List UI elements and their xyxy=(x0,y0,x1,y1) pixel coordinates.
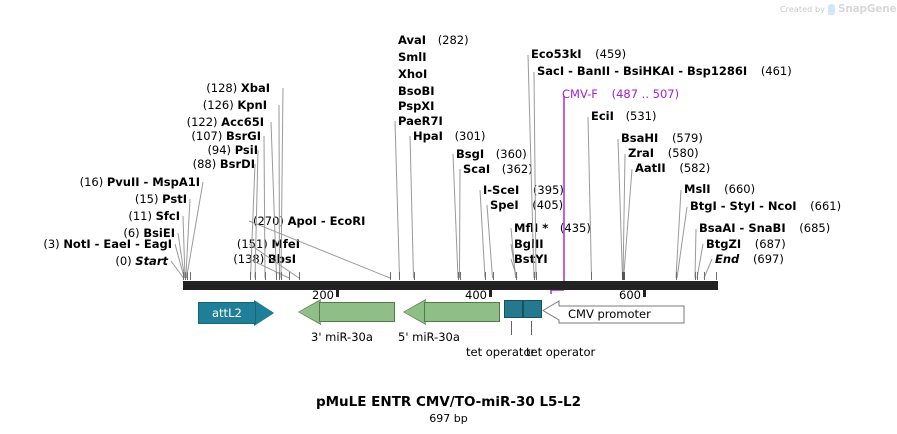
site-names: AvaI xyxy=(398,33,426,47)
tet-operator-1-stem xyxy=(511,321,512,335)
site-pos: (697) xyxy=(753,252,784,266)
site-names: ScaI xyxy=(463,162,490,176)
site-pos: (459) xyxy=(595,47,626,61)
site-names: SmlI xyxy=(398,50,427,64)
site-label-bsaHI: BsaHI (579) xyxy=(621,132,703,145)
site-pos: (687) xyxy=(755,237,786,251)
site-label-end: End (697) xyxy=(715,253,784,266)
site-label-bsaAI-snaBI: BsaAI - SnaBI (685) xyxy=(699,222,830,235)
site-names: PaeR7I xyxy=(398,114,443,128)
site-label-kpnI: (126) KpnI xyxy=(80,99,267,112)
site-pos: (579) xyxy=(672,131,703,145)
site-pos: (3) xyxy=(43,237,59,251)
site-label-sfcI: (11) SfcI xyxy=(0,210,180,223)
site-names: BbsI xyxy=(268,252,296,266)
site-names: BtgI - StyI - NcoI xyxy=(690,199,797,213)
site-names: XhoI xyxy=(398,67,427,81)
feature-3prime-mir-30a[interactable] xyxy=(299,300,395,324)
site-label-smlI: SmlI xyxy=(398,51,427,64)
site-names: PsiI xyxy=(235,143,258,157)
site-pos: (435) xyxy=(560,221,591,235)
site-pos: (138) xyxy=(233,252,264,266)
site-names: MflI * xyxy=(514,221,548,235)
site-pos: (270) xyxy=(253,214,284,228)
site-names: BsaHI xyxy=(621,131,658,145)
site-label-xhoI: XhoI xyxy=(398,68,427,81)
site-names: AatII xyxy=(635,161,666,175)
site-label-zraI: ZraI (580) xyxy=(628,147,699,160)
site-names: BsgI xyxy=(456,147,484,161)
site-label-speI: SpeI (405) xyxy=(490,199,563,212)
site-pos: (685) xyxy=(799,221,830,235)
feature-attL2-label: attL2 xyxy=(212,306,242,320)
primer-label-cmv-f: CMV-F (487 .. 507) xyxy=(562,88,679,101)
site-pos: (360) xyxy=(496,147,527,161)
site-label-bbsI: (138) BbsI xyxy=(120,253,296,266)
site-label-bsrGI: (107) BsrGI xyxy=(80,130,261,143)
ruler-tick-400 xyxy=(489,288,492,297)
site-names: KpnI xyxy=(237,98,267,112)
site-names: SpeI xyxy=(490,198,519,212)
site-label-pvuII-mspA1I: (16) PvuII - MspA1I xyxy=(0,176,200,189)
site-names: I-SceI xyxy=(483,183,519,197)
site-pos: (661) xyxy=(810,199,841,213)
primer-name: CMV-F xyxy=(562,87,598,101)
site-names: PspXI xyxy=(398,99,434,113)
site-pos: (461) xyxy=(761,64,792,78)
site-label-paeR7I: PaeR7I xyxy=(398,115,443,128)
site-label-btgI-styI-ncoI: BtgI - StyI - NcoI (661) xyxy=(690,200,841,213)
site-names: BtgZI xyxy=(706,237,741,251)
site-label-xbaI: (128) XbaI xyxy=(80,82,270,95)
site-label-btgZI: BtgZI (687) xyxy=(706,238,786,251)
site-label-hpaI: HpaI (301) xyxy=(413,130,486,143)
site-pos: (94) xyxy=(207,143,231,157)
site-label-sacI-banII-bsiHKAI-bsp1286I: SacI - BanII - BsiHKAI - Bsp1286I (461) xyxy=(537,65,792,78)
site-pos: (88) xyxy=(193,157,217,171)
site-pos: (126) xyxy=(203,98,234,112)
ruler-tick-200 xyxy=(336,288,339,297)
site-label-pspXI: PspXI xyxy=(398,100,434,113)
site-names: SfcI xyxy=(156,209,180,223)
site-label-eco53kI: Eco53kI (459) xyxy=(531,48,626,61)
site-names: ZraI xyxy=(628,146,654,160)
tet-operator-2-stem xyxy=(531,321,532,335)
site-pos: (16) xyxy=(80,175,104,189)
site-pos: (582) xyxy=(679,161,710,175)
site-names: MfeI xyxy=(271,237,300,251)
feature-5prime-mir-30a-label: 5' miR-30a xyxy=(398,330,460,344)
site-names: BstYI xyxy=(514,252,548,266)
site-names: XbaI xyxy=(241,81,270,95)
feature-cmv-promoter-label: CMV promoter xyxy=(568,307,651,321)
site-pos: (531) xyxy=(626,109,657,123)
site-names: SacI - BanII - BsiHKAI - Bsp1286I xyxy=(537,64,747,78)
site-label-bstYI: BstYI xyxy=(514,253,548,266)
site-label-psiI: (94) PsiI xyxy=(80,144,258,157)
site-label-bsgI: BsgI (360) xyxy=(456,148,527,161)
primer-range: (487 .. 507) xyxy=(612,87,680,101)
site-names: PvuII - MspA1I xyxy=(107,175,200,189)
site-names: BsrGI xyxy=(226,129,261,143)
site-names: BsoBI xyxy=(398,84,435,98)
site-label-apoI-ecoRI: (270) ApoI - EcoRI xyxy=(253,215,365,228)
site-pos: (405) xyxy=(532,198,563,212)
site-pos: (107) xyxy=(191,129,222,143)
site-pos: (660) xyxy=(724,182,755,196)
ruler-tick-600 xyxy=(643,288,646,297)
site-pos: (151) xyxy=(237,237,268,251)
feature-5prime-mir-30a[interactable] xyxy=(404,300,500,324)
site-names: ApoI - EcoRI xyxy=(288,214,366,228)
plasmid-title: pMuLE ENTR CMV/TO-miR-30 L5-L2 xyxy=(0,394,897,410)
site-pos: (395) xyxy=(533,183,564,197)
site-names: Acc65I xyxy=(221,115,264,129)
site-label-mslI: MslI (660) xyxy=(684,183,755,196)
site-names: End xyxy=(715,252,739,266)
site-names: Eco53kI xyxy=(531,47,582,61)
site-names: PstI xyxy=(162,192,187,206)
site-pos: (11) xyxy=(128,209,152,223)
site-pos: (15) xyxy=(135,192,159,206)
feature-tet-operator-1[interactable] xyxy=(504,300,523,318)
watermark-brand: SnapGene xyxy=(838,3,896,15)
site-names: HpaI xyxy=(413,129,443,143)
snapgene-logo-icon xyxy=(828,4,835,15)
site-pos: (122) xyxy=(187,115,218,129)
feature-attL2[interactable]: attL2 xyxy=(198,302,278,324)
site-pos: (282) xyxy=(438,33,469,47)
feature-3prime-mir-30a-label: 3' miR-30a xyxy=(311,330,373,344)
feature-tet-operator-1-label: tet operator xyxy=(466,345,535,359)
site-names: BglII xyxy=(514,237,544,251)
site-names: BsrDI xyxy=(220,157,255,171)
feature-tet-operator-2-label: tet operator xyxy=(526,345,595,359)
site-label-mflI: MflI * (435) xyxy=(514,222,591,235)
plasmid-length: 697 bp xyxy=(0,412,897,425)
site-pos: (301) xyxy=(455,129,486,143)
site-names: BsaAI - SnaBI xyxy=(699,221,786,235)
site-label-bsrDI: (88) BsrDI xyxy=(80,158,255,171)
site-label-avaI: AvaI (282) xyxy=(398,34,469,47)
site-pos: (128) xyxy=(206,81,237,95)
site-names: EciI xyxy=(591,109,614,123)
site-names: MslI xyxy=(684,182,711,196)
watermark-prefix: Created by xyxy=(780,5,825,14)
site-label-eciI: EciI (531) xyxy=(591,110,657,123)
site-label-bglII: BglII xyxy=(514,238,544,251)
site-label-mfeI: (151) MfeI xyxy=(120,238,300,251)
site-label-pstI: (15) PstI xyxy=(0,193,187,206)
snapgene-watermark: Created by SnapGene xyxy=(780,3,896,15)
site-label-scaI: ScaI (362) xyxy=(463,163,533,176)
site-label-aatII: AatII (582) xyxy=(635,162,710,175)
site-pos: (362) xyxy=(502,162,533,176)
site-pos: (580) xyxy=(668,146,699,160)
feature-tet-operator-2[interactable] xyxy=(523,300,542,318)
plasmid-map: Created by SnapGene (16) PvuII - MspA1I … xyxy=(0,0,897,434)
site-label-bsoBI: BsoBI xyxy=(398,85,435,98)
site-label-acc65I: (122) Acc65I xyxy=(80,116,264,129)
site-label-i-sceI: I-SceI (395) xyxy=(483,184,564,197)
